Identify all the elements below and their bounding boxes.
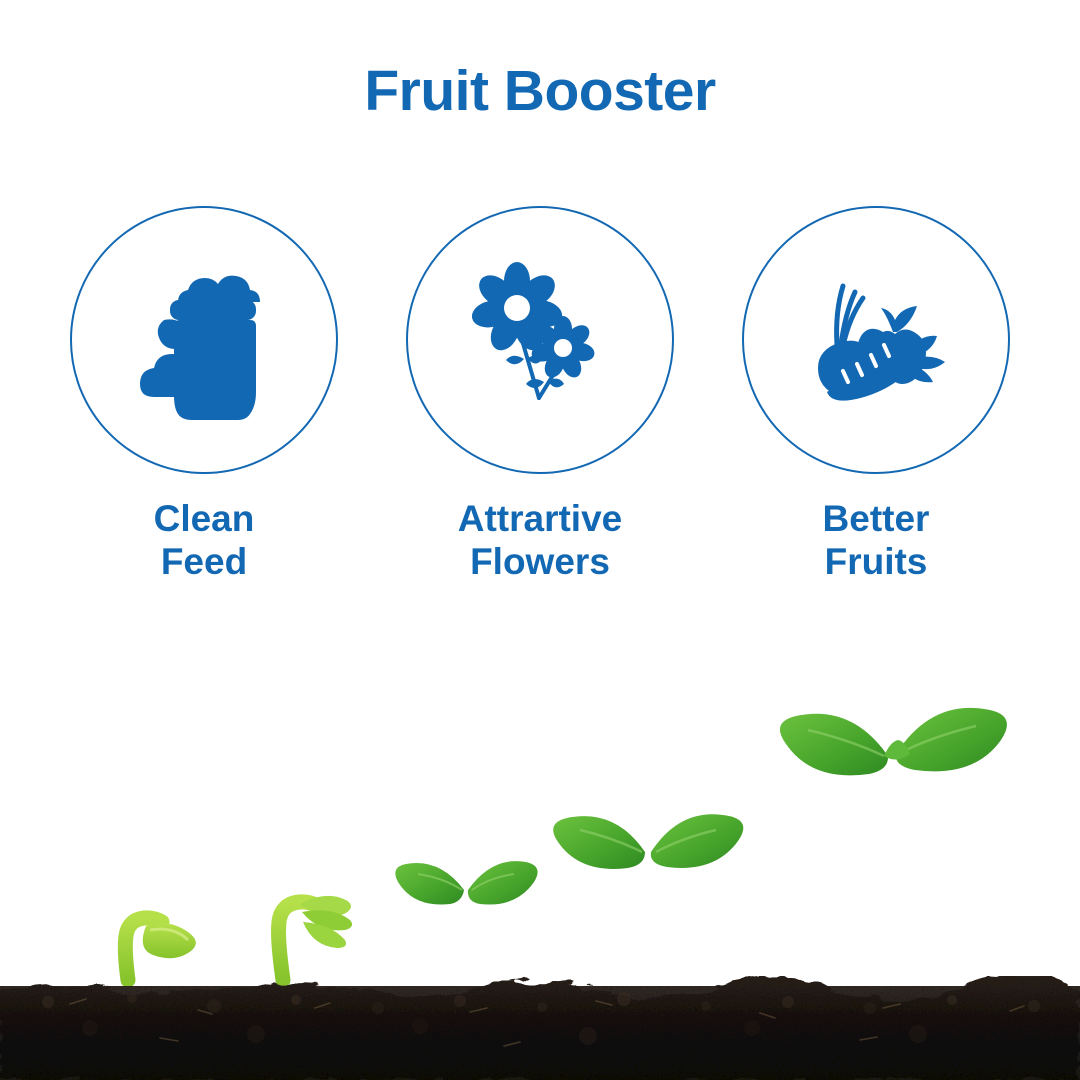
page-title: Fruit Booster (0, 60, 1080, 123)
growth-stage-5 (780, 708, 1007, 998)
growth-stage-4 (553, 814, 743, 992)
two-flowers-icon (460, 260, 620, 420)
feature-label-1: Clean Feed (154, 498, 255, 584)
feature-attractive-flowers[interactable]: Attrartive Flowers (372, 206, 708, 584)
feature-row: Clean Feed (0, 206, 1080, 584)
fertilizer-bag-sprout-icon (124, 260, 284, 420)
feature-icon-circle-2[interactable] (406, 206, 674, 474)
poster-canvas: Fruit Booster (0, 0, 1080, 1080)
growth-stage-1 (125, 918, 196, 980)
feature-clean-feed[interactable]: Clean Feed (36, 206, 372, 584)
soil-band (0, 976, 1080, 1080)
feature-label-2: Attrartive Flowers (458, 498, 623, 584)
growth-stage-3 (395, 861, 537, 990)
feature-icon-circle-1[interactable] (70, 206, 338, 474)
plant-growth-scene (0, 660, 1080, 1080)
feature-better-fruits[interactable]: Better Fruits (708, 206, 1044, 584)
feature-label-3: Better Fruits (823, 498, 930, 584)
growth-stage-2 (279, 896, 353, 980)
vegetables-carrot-beet-icon (791, 260, 961, 420)
feature-icon-circle-3[interactable] (742, 206, 1010, 474)
